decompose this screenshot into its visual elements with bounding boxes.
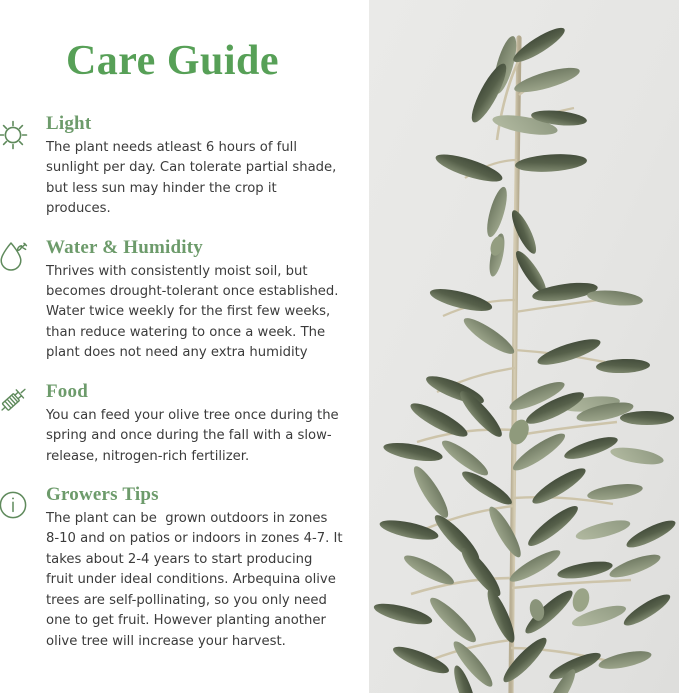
care-guide-page: Care Guide <box>0 0 679 693</box>
section-heading-light: Light <box>46 113 343 135</box>
section-heading-food: Food <box>46 381 343 403</box>
section-heading-water: Water & Humidity <box>46 237 343 259</box>
section-body-light: The plant needs atleast 6 hours of full … <box>46 138 343 220</box>
section-heading-growers-tips: Growers Tips <box>46 484 343 506</box>
info-circle-icon <box>0 486 42 526</box>
page-title: Care Guide <box>0 40 345 82</box>
section-body-food: You can feed your olive tree once during… <box>46 406 343 467</box>
water-droplet-icon <box>0 239 42 279</box>
syringe-icon <box>0 383 42 423</box>
care-section-food: Food You can feed your olive tree once d… <box>0 381 369 467</box>
care-guide-panel: Care Guide <box>0 0 369 693</box>
sun-icon <box>0 115 42 155</box>
care-section-water: Water & Humidity Thrives with consistent… <box>0 237 369 364</box>
care-sections-list: Light The plant needs atleast 6 hours of… <box>0 113 369 669</box>
olive-plant-illustration <box>369 0 679 693</box>
care-section-light: Light The plant needs atleast 6 hours of… <box>0 113 369 220</box>
care-section-growers-tips: Growers Tips The plant can be grown outd… <box>0 484 369 652</box>
section-body-growers-tips: The plant can be grown outdoors in zones… <box>46 509 343 652</box>
olive-branch-photo <box>369 0 679 693</box>
section-body-water: Thrives with consistently moist soil, bu… <box>46 262 343 364</box>
